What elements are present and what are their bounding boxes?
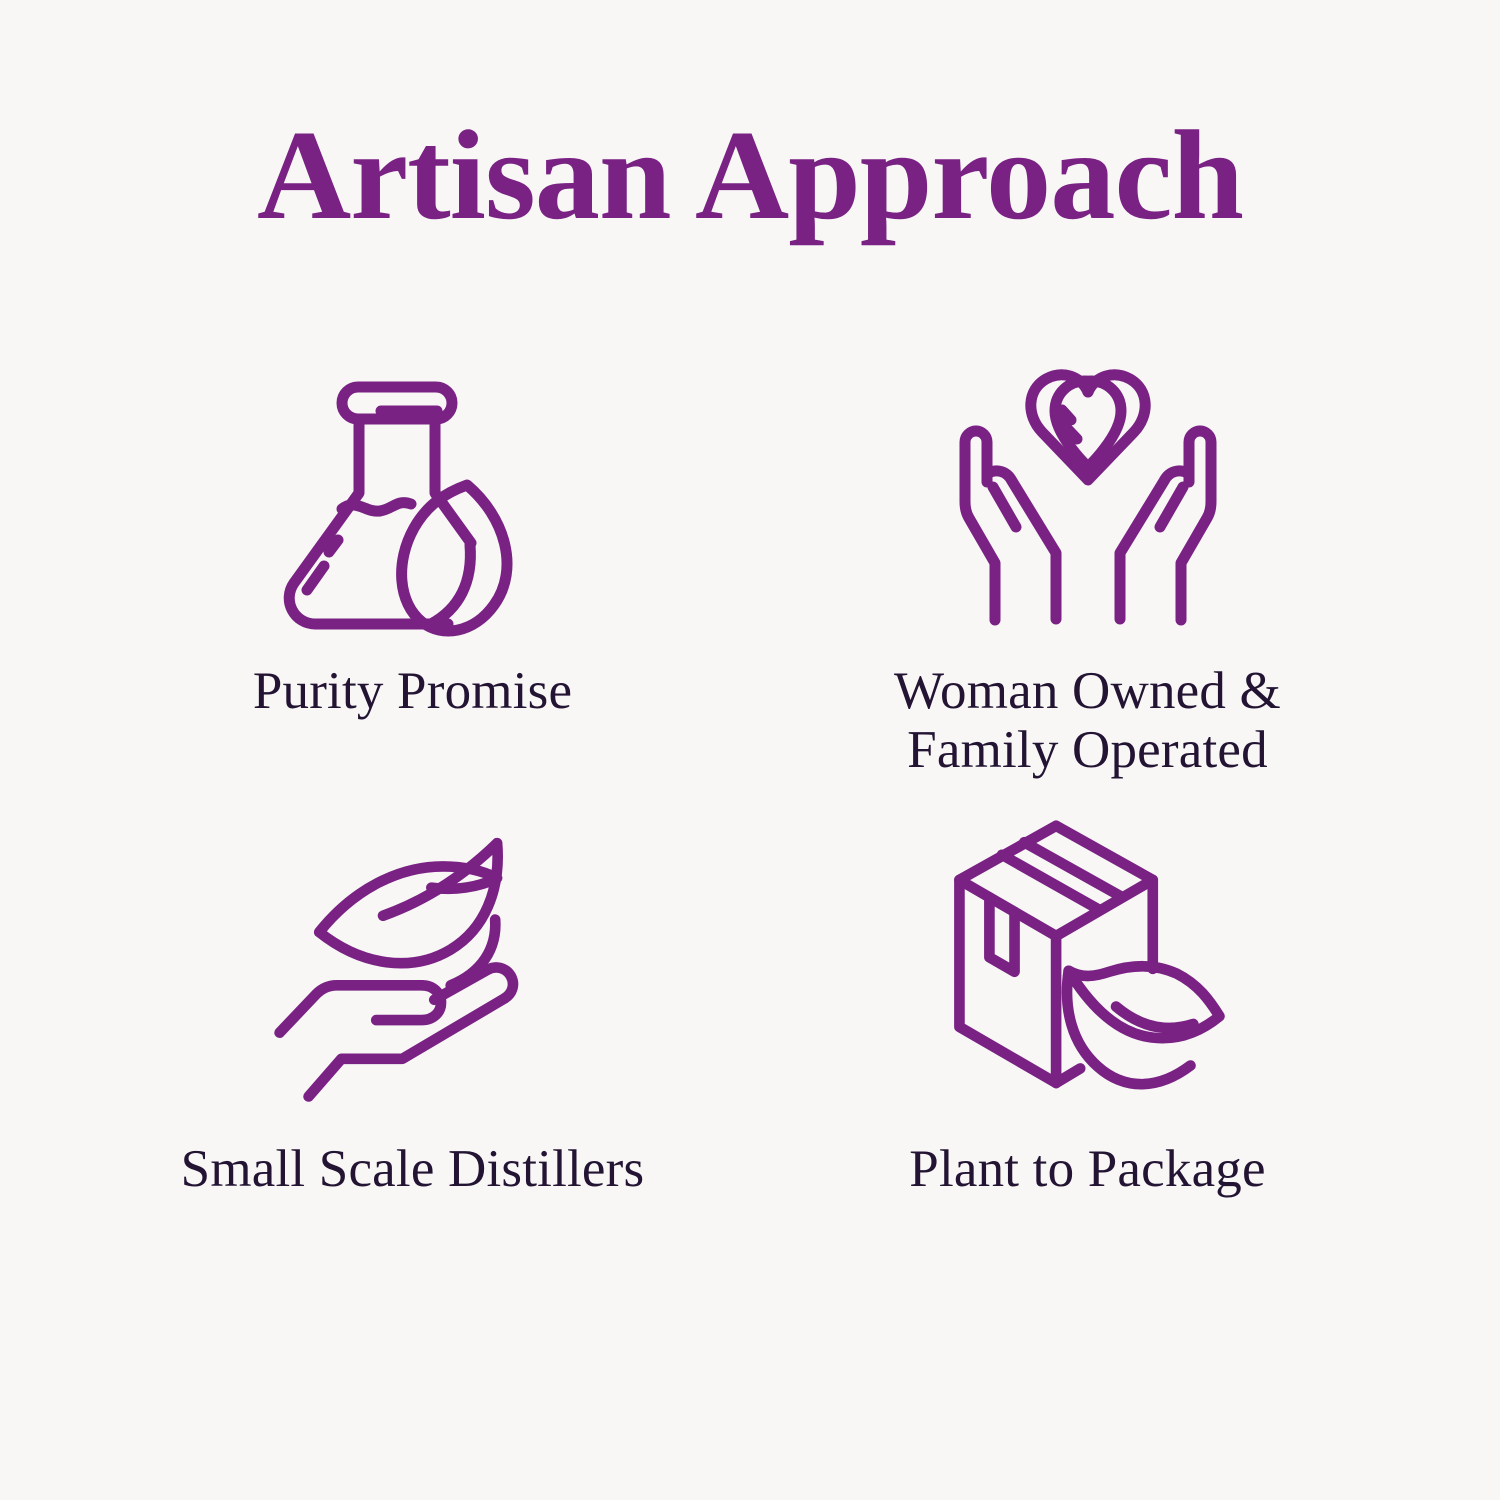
feature-label: Woman Owned & Family Operated [894,662,1281,781]
page-title: Artisan Approach [0,108,1500,242]
feature-item-woman-owned: Woman Owned & Family Operated [750,340,1425,820]
hand-leaf-icon [263,820,563,1110]
feature-label: Plant to Package [909,1140,1265,1199]
feature-item-small-scale-distillers: Small Scale Distillers [75,820,750,1300]
feature-item-plant-to-package: Plant to Package [750,820,1425,1300]
box-leaf-icon [938,820,1238,1110]
feature-grid: Purity Promise [75,340,1425,1300]
hands-heart-icon [938,340,1238,640]
page-title-container: Artisan Approach [0,108,1500,242]
feature-label: Small Scale Distillers [181,1140,645,1199]
feature-label: Purity Promise [253,662,572,721]
feature-item-purity-promise: Purity Promise [75,340,750,820]
flask-leaf-icon [263,340,563,640]
artisan-approach-panel: Artisan Approach [0,0,1500,1500]
